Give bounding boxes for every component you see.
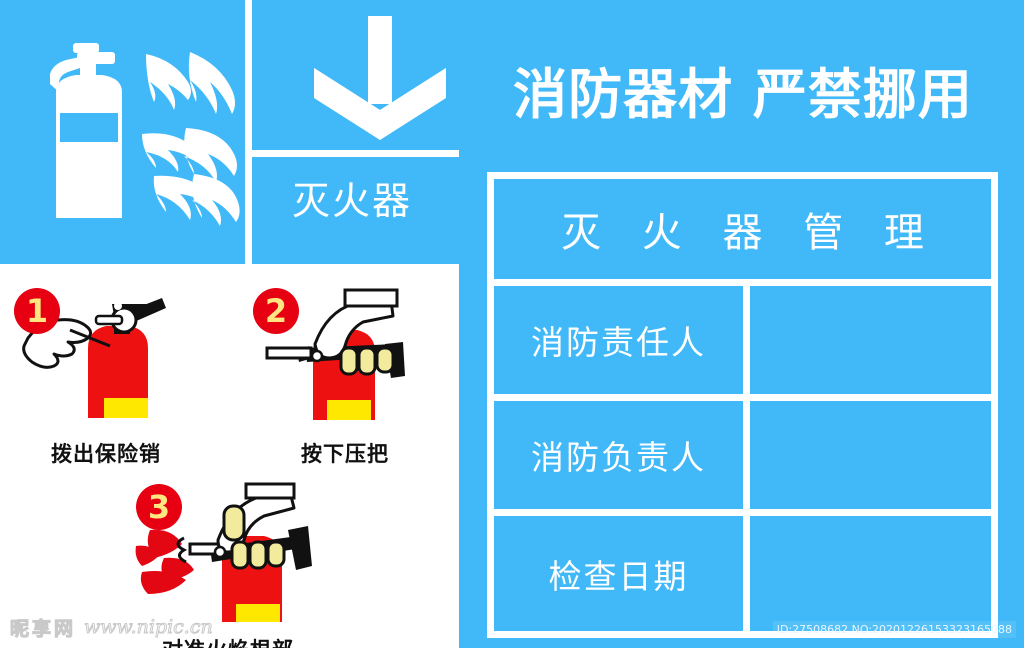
step-item: 2	[245, 286, 445, 468]
poster-canvas: 灭火器 1	[0, 0, 1024, 648]
fire-extinguisher-icon	[18, 30, 243, 230]
extinguisher-management-table: 灭 火 器 管 理 消防责任人 消防负责人 检查日期	[487, 172, 998, 638]
step-number-badge: 1	[14, 288, 60, 334]
row-value-responsible-person[interactable]	[750, 286, 991, 401]
row-label-responsible-person: 消防责任人	[494, 286, 750, 401]
table-row: 消防负责人	[494, 401, 991, 516]
steps-panel: 1 拨出保险销	[0, 264, 459, 648]
id-watermark: ID:27508682 NO:20201226153323165088	[773, 621, 1016, 638]
pictogram-panel: 灭火器	[0, 0, 459, 265]
table-title-cell: 灭 火 器 管 理	[494, 179, 991, 286]
step-number-badge: 2	[253, 288, 299, 334]
step-item: 1 拨出保险销	[6, 286, 206, 468]
panel-divider-vertical	[245, 0, 252, 265]
panel-divider-horizontal	[252, 150, 459, 157]
step-number-badge: 3	[136, 484, 182, 530]
step-caption: 按下压把	[245, 438, 445, 468]
step-1-illustration: 1	[6, 286, 206, 436]
table-header-row: 灭 火 器 管 理	[494, 179, 991, 286]
site-url-text: www.nipic.cn	[84, 616, 213, 638]
site-watermark: 昵享网 www.nipic.cn	[10, 612, 213, 642]
row-label-supervisor: 消防负责人	[494, 401, 750, 516]
table-row: 检查日期	[494, 516, 991, 631]
row-value-inspection-date[interactable]	[750, 516, 991, 631]
step-2-illustration: 2	[245, 286, 445, 436]
table-row: 消防责任人	[494, 286, 991, 401]
arrow-down-icon	[300, 12, 460, 147]
row-value-supervisor[interactable]	[750, 401, 991, 516]
page-title: 消防器材 严禁挪用	[470, 50, 1016, 129]
step-caption: 拨出保险销	[6, 438, 206, 468]
site-logo-text: 昵享网	[10, 614, 76, 641]
extinguisher-label: 灭火器	[252, 178, 452, 224]
step-3-illustration: 3	[128, 482, 328, 632]
row-label-inspection-date: 检查日期	[494, 516, 750, 631]
